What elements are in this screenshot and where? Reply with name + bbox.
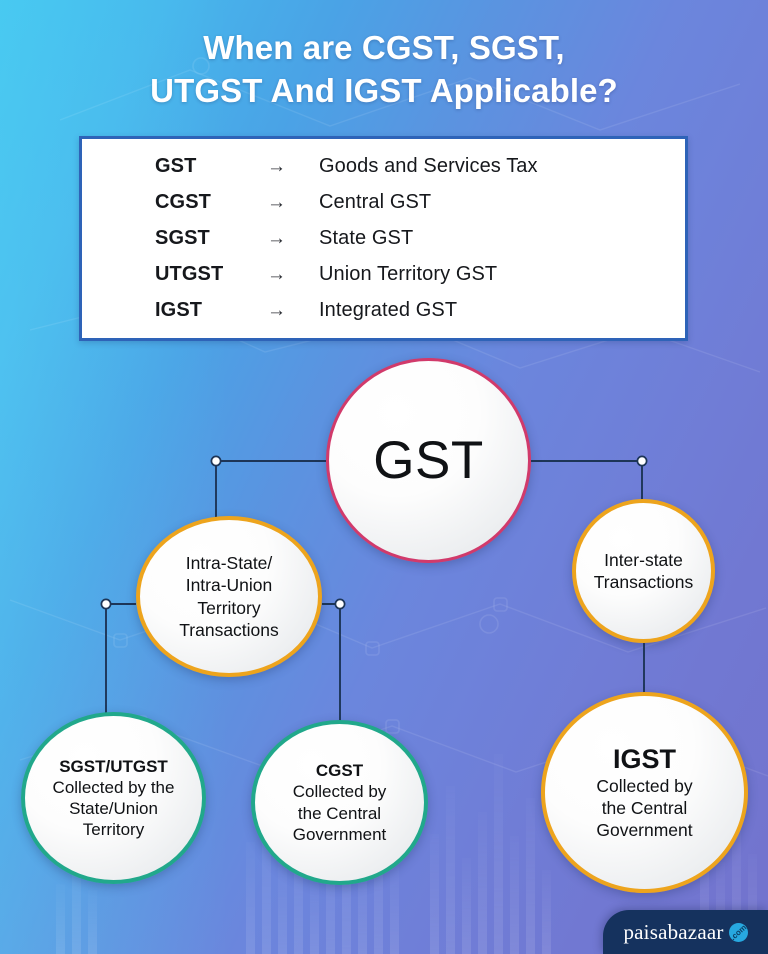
node-igst-label: IGST Collected by the Central Government (590, 744, 698, 842)
node-cgst[interactable]: CGST Collected by the Central Government (251, 720, 428, 885)
node-sgst-label: SGST/UTGST Collected by the State/Union … (47, 756, 181, 841)
node-gst-label: GST (367, 430, 489, 491)
node-intra-line-1: Intra-State/ (179, 552, 279, 574)
node-sgst-heading: SGST/UTGST (53, 756, 175, 777)
node-igst-line-2: the Central (596, 797, 692, 819)
connector-dot (211, 456, 220, 465)
node-sgst-utgst[interactable]: SGST/UTGST Collected by the State/Union … (21, 712, 206, 884)
node-igst[interactable]: IGST Collected by the Central Government (541, 692, 748, 893)
node-cgst-line-3: Government (293, 824, 387, 845)
infographic-canvas: When are CGST, SGST, UTGST And IGST Appl… (0, 0, 768, 954)
node-intra-state-transactions[interactable]: Intra-State/ Intra-Union Territory Trans… (136, 516, 322, 677)
node-cgst-line-2: the Central (293, 803, 387, 824)
node-intra-line-4: Transactions (179, 619, 279, 641)
node-gst-root[interactable]: GST (326, 358, 531, 563)
brand-wordmark: paisabazaar (623, 920, 723, 945)
node-sgst-line-3: Territory (53, 819, 175, 840)
connector-dot (335, 599, 344, 608)
connector-dot (637, 456, 646, 465)
node-sgst-line-1: Collected by the (53, 777, 175, 798)
node-intra-label: Intra-State/ Intra-Union Territory Trans… (173, 552, 285, 640)
node-inter-line-1: Inter-state (594, 549, 694, 571)
connector-dot (101, 599, 110, 608)
node-inter-line-2: Transactions (594, 571, 694, 593)
footer-brand-bar: paisabazaar .com (603, 910, 768, 954)
node-inter-label: Inter-state Transactions (588, 549, 700, 593)
node-intra-line-2: Intra-Union (179, 574, 279, 596)
node-igst-line-1: Collected by (596, 775, 692, 797)
node-cgst-line-1: Collected by (293, 781, 387, 802)
dot-com-text: .com (728, 922, 748, 941)
node-igst-heading: IGST (596, 744, 692, 776)
node-cgst-heading: CGST (293, 760, 387, 781)
node-igst-line-3: Government (596, 819, 692, 841)
node-intra-line-3: Territory (179, 597, 279, 619)
node-inter-state-transactions[interactable]: Inter-state Transactions (572, 499, 715, 643)
node-cgst-label: CGST Collected by the Central Government (287, 760, 393, 845)
node-sgst-line-2: State/Union (53, 798, 175, 819)
dot-com-badge-icon: .com (729, 923, 748, 942)
